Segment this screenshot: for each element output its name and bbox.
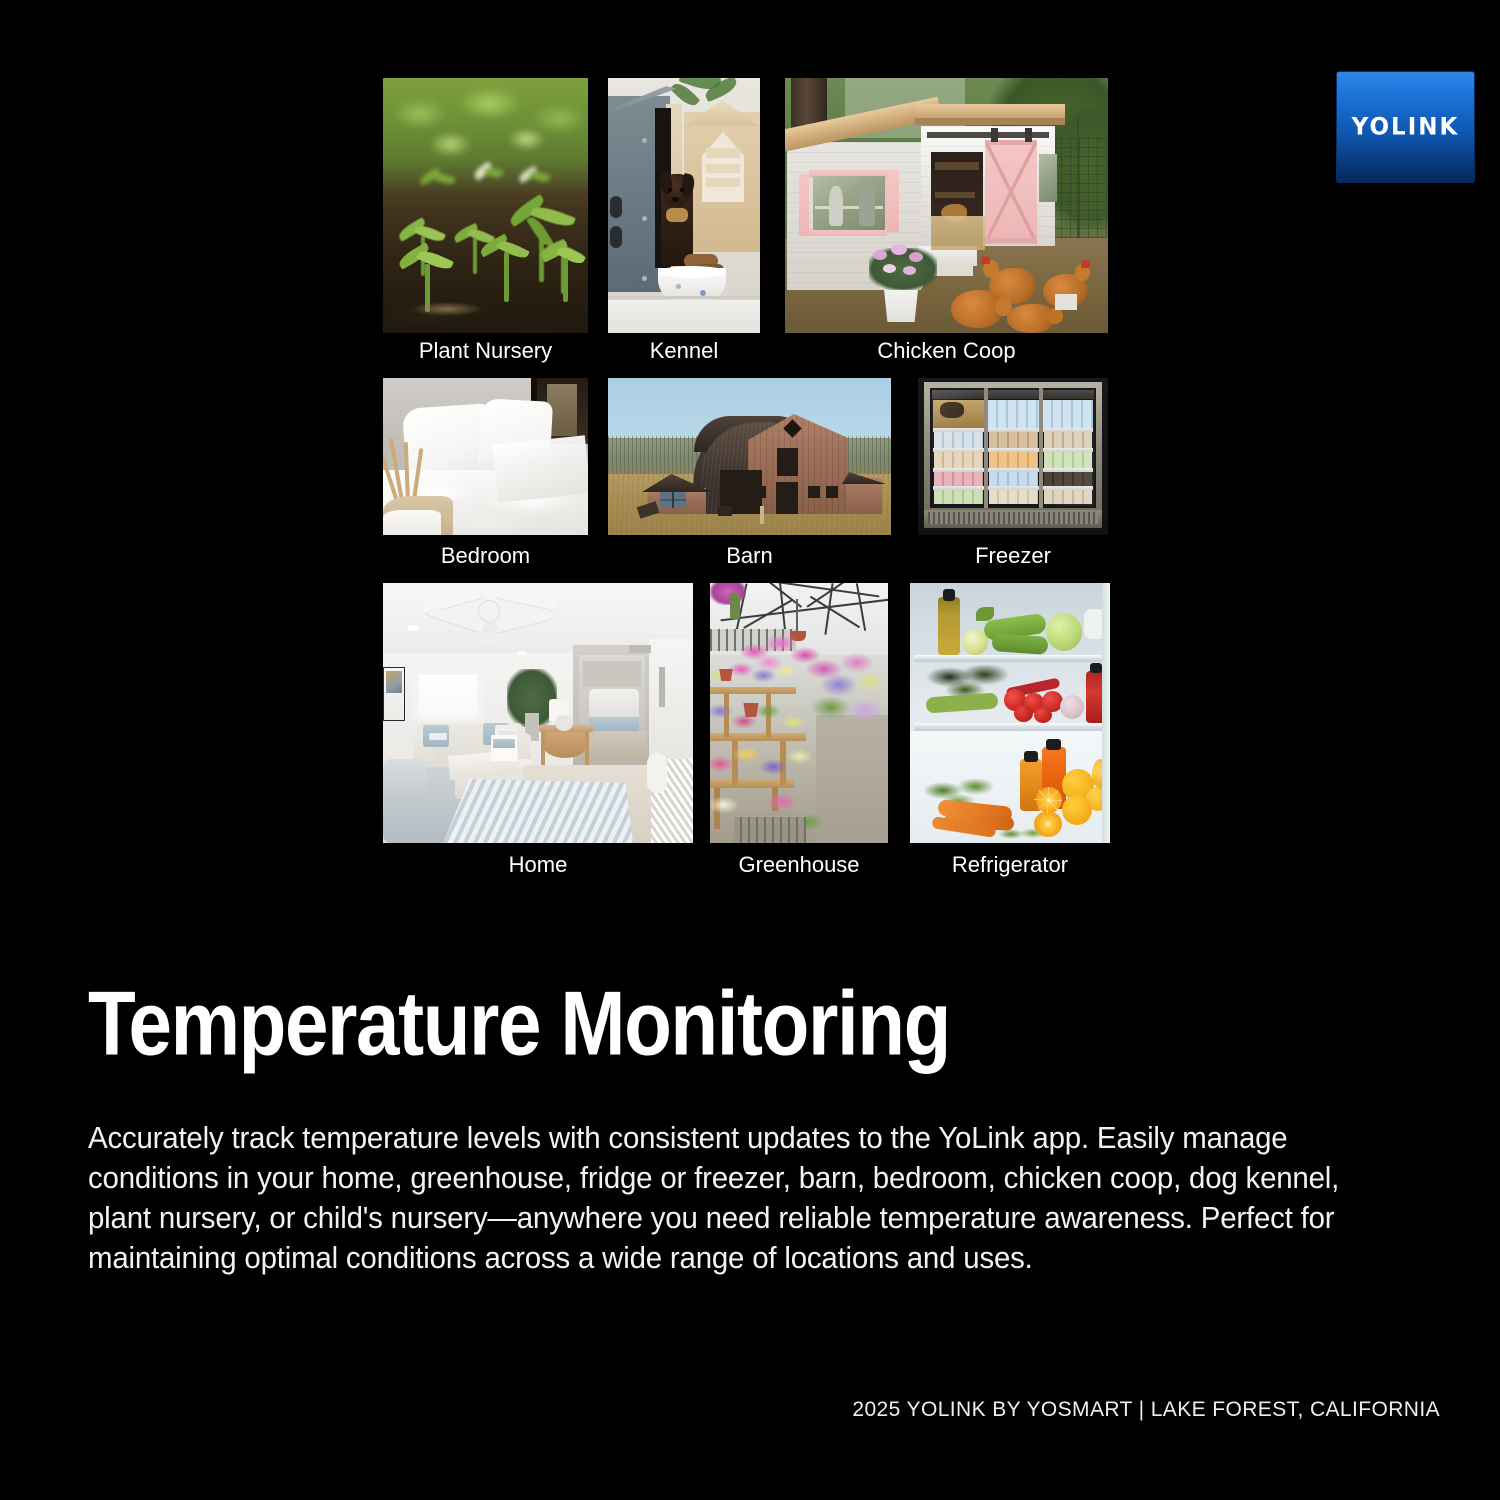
barn-photo [608, 378, 891, 535]
gallery-tile-freezer [918, 378, 1108, 535]
gallery-caption-bedroom: Bedroom [383, 543, 588, 569]
freezer-photo [918, 378, 1108, 535]
gallery-caption-greenhouse: Greenhouse [710, 852, 888, 878]
gallery-tile-barn [608, 378, 891, 535]
gallery-tile-plant-nursery [383, 78, 588, 333]
gallery-caption-plant-nursery: Plant Nursery [383, 338, 588, 364]
page-title: Temperature Monitoring [88, 978, 950, 1069]
gallery-tile-refrigerator [910, 583, 1110, 843]
chicken-coop-photo [785, 78, 1108, 333]
greenhouse-photo [710, 583, 888, 843]
gallery-caption-home: Home [383, 852, 693, 878]
bedroom-photo [383, 378, 588, 535]
gallery-tile-home [383, 583, 693, 843]
footer-copyright: 2025 YOLINK BY YOSMART | LAKE FOREST, CA… [852, 1398, 1440, 1422]
gallery-tile-greenhouse [710, 583, 888, 843]
gallery-caption-barn: Barn [608, 543, 891, 569]
gallery-caption-kennel: Kennel [608, 338, 760, 364]
gallery-tile-bedroom [383, 378, 588, 535]
gallery-tile-chicken-coop [785, 78, 1108, 333]
gallery-tile-kennel [608, 78, 760, 333]
refrigerator-photo [910, 583, 1110, 843]
gallery-caption-freezer: Freezer [918, 543, 1108, 569]
plant-nursery-photo [383, 78, 588, 333]
use-case-gallery: Plant Nursery Kennel Chicken Coop Bedroo… [0, 0, 1500, 900]
kennel-photo [608, 78, 760, 333]
gallery-caption-refrigerator: Refrigerator [910, 852, 1110, 878]
home-photo [383, 583, 693, 843]
description-paragraph: Accurately track temperature levels with… [88, 1118, 1343, 1278]
gallery-caption-chicken-coop: Chicken Coop [785, 338, 1108, 364]
